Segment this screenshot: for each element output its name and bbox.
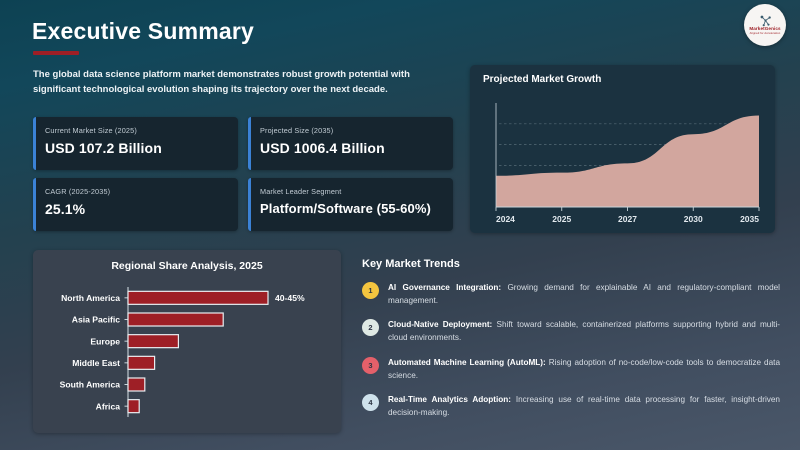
page-subtitle: The global data science platform market …: [33, 68, 448, 97]
bar: [128, 400, 139, 413]
x-axis-tick-label: 2024: [496, 214, 515, 224]
x-axis-tick-label: 2030: [684, 214, 703, 224]
trend-number-badge: 2: [362, 319, 379, 336]
bar-category-label: Africa: [96, 401, 121, 411]
bar-category-label: North America: [61, 293, 120, 303]
trend-item: 2Cloud-Native Deployment: Shift toward s…: [362, 318, 782, 344]
trend-number-badge: 1: [362, 282, 379, 299]
metric-card-market-leader-segment: Market Leader Segment Platform/Software …: [248, 178, 453, 231]
trend-item: 1AI Governance Integration: Growing dema…: [362, 281, 782, 307]
area-series-fill: [496, 115, 759, 207]
metric-card-projected-size: Projected Size (2035) USD 1006.4 Billion: [248, 117, 453, 170]
regional-share-panel: Regional Share Analysis, 2025 North Amer…: [33, 250, 341, 433]
metric-card-current-market-size: Current Market Size (2025) USD 107.2 Bil…: [33, 117, 238, 170]
area-chart-svg: 20242025202720302035: [482, 97, 765, 225]
trend-heading: Real-Time Analytics Adoption:: [388, 395, 511, 404]
area-chart-plot: 20242025202720302035: [482, 97, 765, 225]
trends-title: Key Market Trends: [362, 258, 782, 270]
metric-label: Current Market Size (2025): [45, 126, 228, 135]
bar-data-label: 40-45%: [275, 293, 305, 303]
trend-heading: Cloud-Native Deployment:: [388, 320, 492, 329]
trend-description: Cloud-Native Deployment: Shift toward sc…: [388, 318, 780, 344]
bar: [128, 291, 268, 304]
slide-root: Executive Summary The global data scienc…: [0, 0, 800, 450]
brand-logo: MarketGenics Aligned for Acceleration: [744, 4, 786, 46]
bar-chart-plot: North America40-45%Asia PacificEuropeMid…: [43, 283, 333, 423]
bar-category-label: Europe: [90, 336, 120, 346]
metric-label: Projected Size (2035): [260, 126, 443, 135]
trend-heading: Automated Machine Learning (AutoML):: [388, 358, 546, 367]
bar: [128, 335, 178, 348]
chart-title: Projected Market Growth: [483, 74, 601, 85]
bar-chart-svg: North America40-45%Asia PacificEuropeMid…: [43, 283, 333, 423]
bar: [128, 378, 145, 391]
metric-card-cagr: CAGR (2025-2035) 25.1%: [33, 178, 238, 231]
trend-description: Real-Time Analytics Adoption: Increasing…: [388, 393, 780, 419]
trend-list: 1AI Governance Integration: Growing dema…: [362, 281, 782, 419]
bar-category-label: South America: [60, 380, 121, 390]
trend-heading: AI Governance Integration:: [388, 283, 501, 292]
metric-label: Market Leader Segment: [260, 187, 443, 196]
x-axis-tick-label: 2035: [740, 214, 759, 224]
bar-category-label: Asia Pacific: [72, 315, 120, 325]
key-market-trends-panel: Key Market Trends 1AI Governance Integra…: [362, 258, 782, 430]
page-title: Executive Summary: [32, 18, 254, 45]
trend-number-badge: 3: [362, 357, 379, 374]
trend-item: 3Automated Machine Learning (AutoML): Ri…: [362, 356, 782, 382]
metric-value: USD 1006.4 Billion: [260, 140, 443, 156]
bar-category-label: Middle East: [72, 358, 120, 368]
logo-tagline: Aligned for Acceleration: [750, 33, 781, 36]
trend-description: Automated Machine Learning (AutoML): Ris…: [388, 356, 780, 382]
metric-value: USD 107.2 Billion: [45, 140, 228, 156]
title-underline-accent: [33, 51, 79, 55]
trend-number-badge: 4: [362, 394, 379, 411]
projected-market-growth-panel: Projected Market Growth 2024202520272030…: [470, 65, 775, 233]
trend-description: AI Governance Integration: Growing deman…: [388, 281, 780, 307]
trend-item: 4Real-Time Analytics Adoption: Increasin…: [362, 393, 782, 419]
chart-title: Regional Share Analysis, 2025: [33, 260, 341, 272]
x-axis-tick-label: 2027: [618, 214, 637, 224]
metric-value: Platform/Software (55-60%): [260, 201, 443, 216]
bar: [128, 313, 223, 326]
metric-card-grid: Current Market Size (2025) USD 107.2 Bil…: [33, 117, 453, 231]
metric-label: CAGR (2025-2035): [45, 187, 228, 196]
bar: [128, 356, 155, 369]
x-axis-tick-label: 2025: [552, 214, 571, 224]
metric-value: 25.1%: [45, 201, 228, 217]
